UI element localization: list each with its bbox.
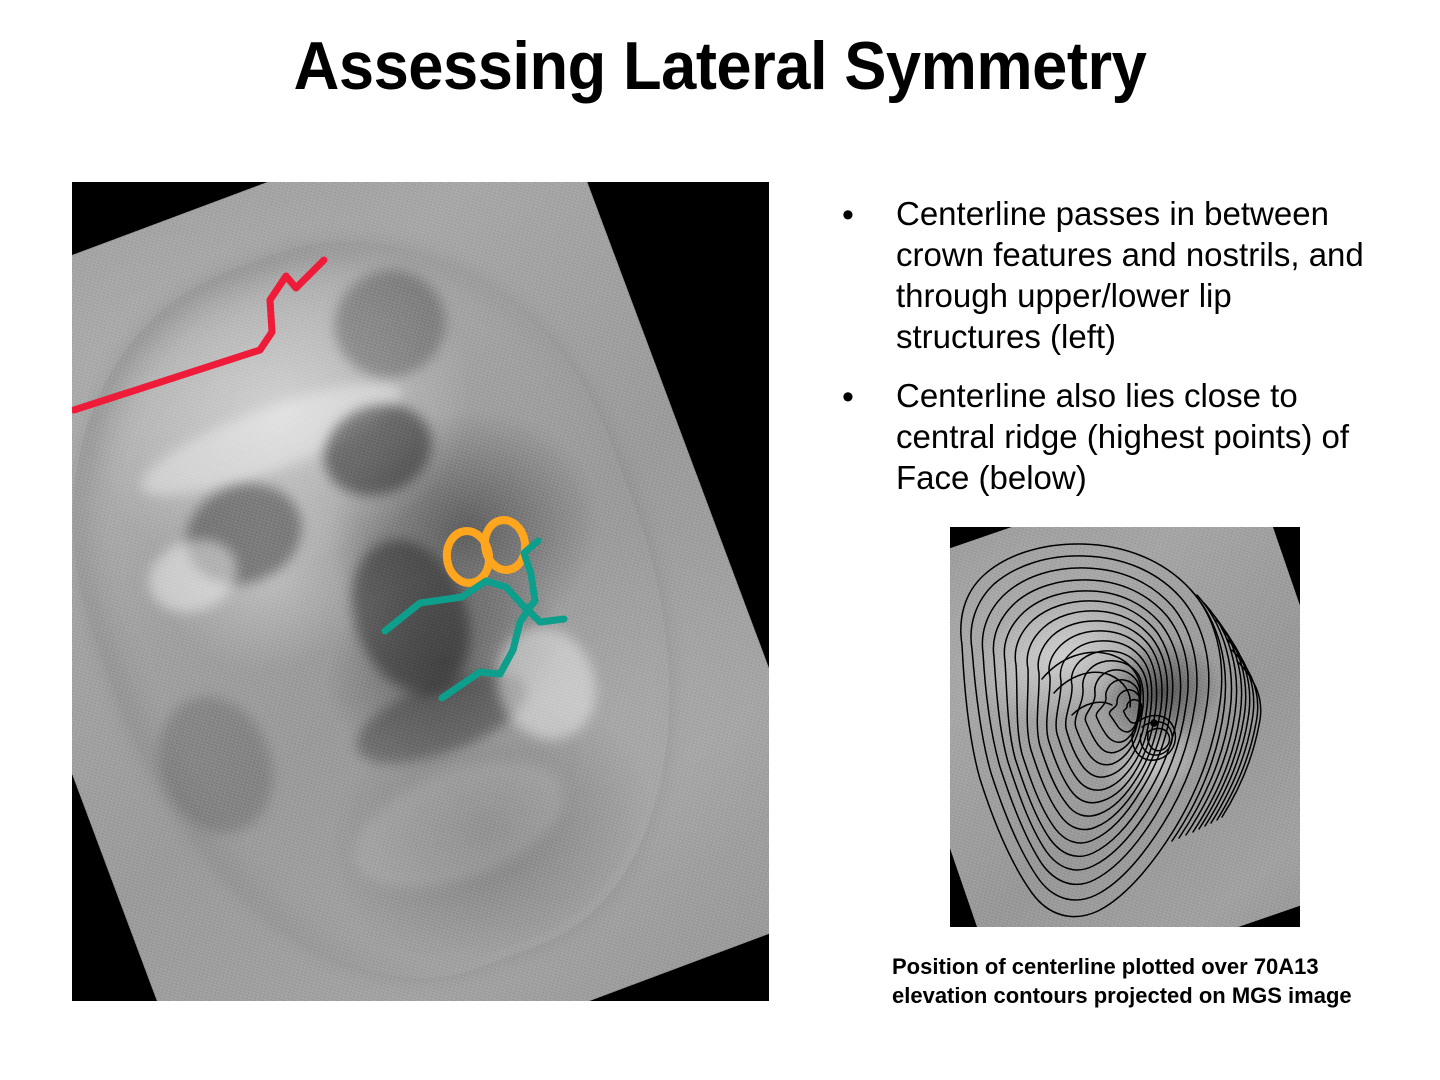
bullet-list: • Centerline passes in between crown fea… [832,193,1372,516]
bullet-marker-icon: • [832,193,896,237]
mgs-face-image [72,182,769,1001]
bullet-text: Centerline also lies close to central ri… [896,375,1372,498]
page-title: Assessing Lateral Symmetry [50,26,1389,106]
caption-line-1: Position of centerline plotted over 70A1… [892,952,1412,981]
lower-lip-line-icon [442,610,564,698]
annotation-overlay [72,182,769,1001]
caption-line-2: elevation contours projected on MGS imag… [892,981,1412,1010]
bullet-text: Centerline passes in between crown featu… [896,193,1372,357]
image-caption: Position of centerline plotted over 70A1… [892,952,1412,1010]
crown-feature-centerline-icon [74,260,324,410]
bullet-marker-icon: • [832,375,896,419]
upper-lip-line-icon [385,541,538,631]
elevation-contour-image [950,527,1300,927]
list-item: • Centerline passes in between crown fea… [832,193,1372,357]
list-item: • Centerline also lies close to central … [832,375,1372,498]
presentation-slide: Assessing Lateral Symmetry [0,0,1440,1080]
contour-lines-overlay [950,527,1300,927]
nostril-right-circle-icon [482,517,529,572]
